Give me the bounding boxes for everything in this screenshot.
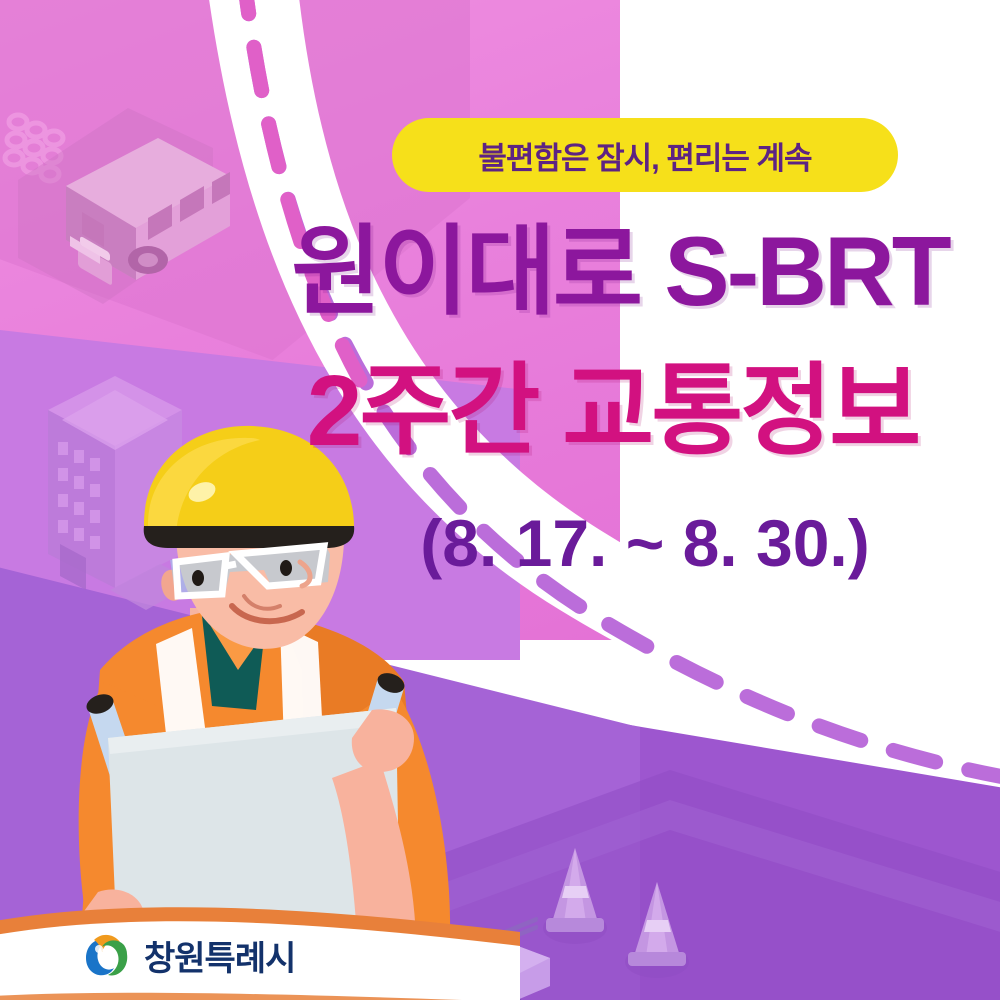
tagline-text: 불편함은 잠시, 편리는 계속 [478, 133, 811, 178]
city-logo-text: 창원특례시 [144, 931, 295, 980]
date-range: (8. 17. ~ 8. 30.) [390, 505, 900, 581]
headline-line-2: 2주간 교통정보 [235, 360, 990, 462]
changwon-city-emblem-icon [80, 928, 134, 982]
tagline-badge: 불편함은 잠시, 편리는 계속 [392, 118, 898, 192]
headline-line-1: 원이대로 S-BRT [255, 222, 985, 322]
city-logo: 창원특례시 [80, 928, 295, 982]
poster-canvas: 불편함은 잠시, 편리는 계속 원이대로 S-BRT 2주간 교통정보 (8. … [0, 0, 1000, 1000]
